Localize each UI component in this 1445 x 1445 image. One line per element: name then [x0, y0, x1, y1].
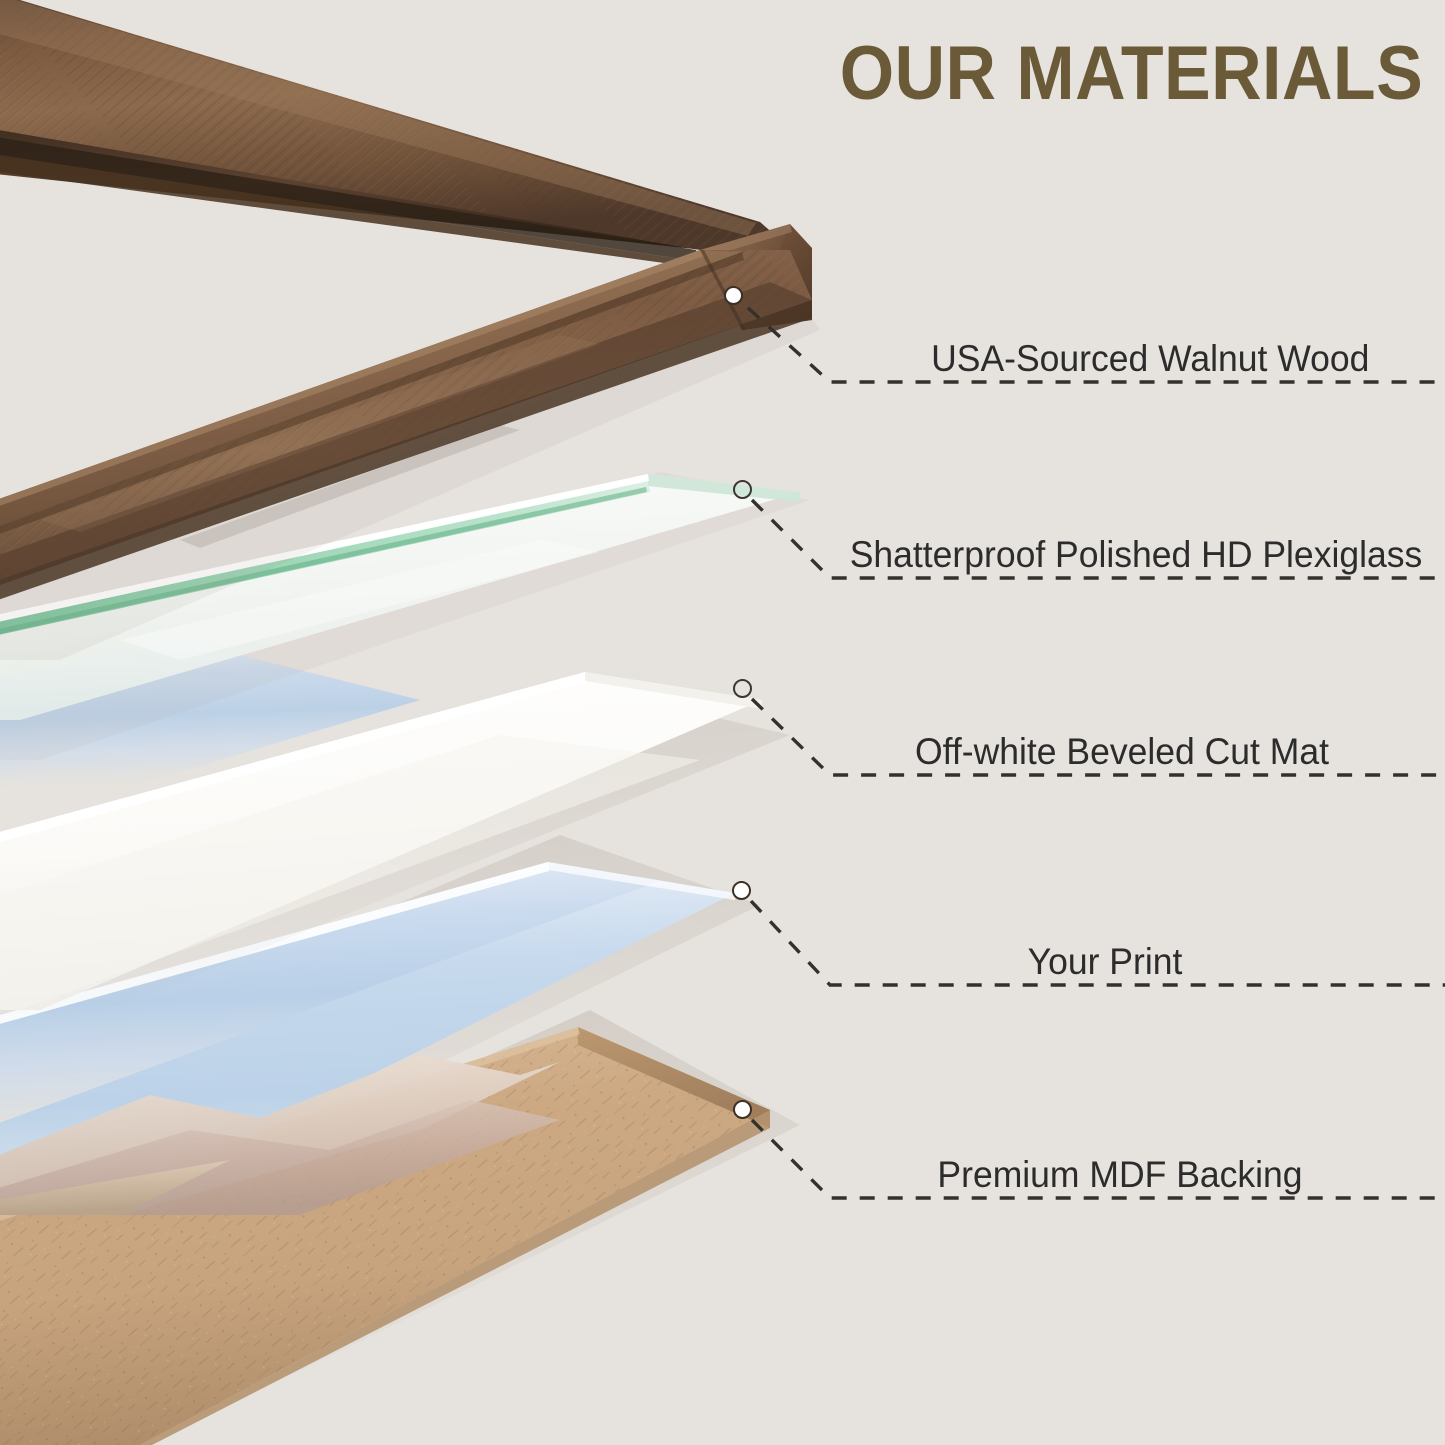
callout-dot-plexiglass[interactable] [733, 480, 752, 499]
callout-dot-mdf-backing[interactable] [733, 1100, 752, 1119]
callout-label-mat: Off-white Beveled Cut Mat [915, 731, 1330, 773]
callout-dot-walnut-wood[interactable] [724, 286, 743, 305]
callout-leader-lines [0, 0, 1445, 1445]
infographic-canvas: OUR MATERIALS USA-Sourced Walnut Wood Sh… [0, 0, 1445, 1445]
callout-label-walnut-wood: USA-Sourced Walnut Wood [931, 338, 1369, 380]
callout-label-plexiglass: Shatterproof Polished HD Plexiglass [848, 534, 1424, 576]
callout-dot-print[interactable] [732, 881, 751, 900]
callout-label-mdf-backing: Premium MDF Backing [915, 1154, 1326, 1196]
callout-label-print: Your Print [932, 941, 1278, 983]
callout-dot-mat[interactable] [733, 679, 752, 698]
callout-mdf-backing: Premium MDF Backing [0, 0, 1445, 1]
